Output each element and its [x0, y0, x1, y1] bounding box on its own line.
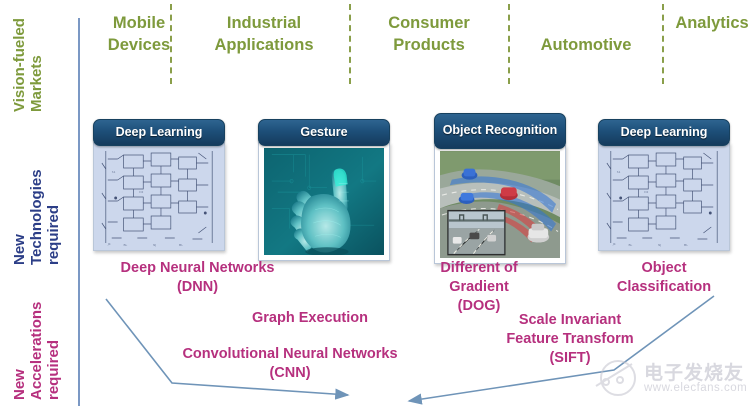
axis-tech-line2: Technologies — [29, 169, 46, 265]
market-columns-header: Mobile Devices Industrial Applications C… — [84, 4, 750, 84]
term-line1: Graph Execution — [240, 309, 380, 328]
column-header-line2: Devices — [108, 36, 170, 54]
svg-text:S1: S1 — [617, 170, 621, 174]
svg-text:ML: ML — [684, 243, 689, 247]
column-header-line1: Mobile — [113, 14, 165, 32]
tech-card-title: Object Recognition — [434, 113, 566, 149]
column-divider-2 — [349, 4, 351, 84]
vertical-axis-line — [78, 18, 80, 406]
term-object-classification: Object Classification — [594, 259, 734, 297]
tech-card-title-line1: Object — [443, 123, 482, 137]
svg-text:BL: BL — [629, 243, 633, 247]
term-deep-neural-networks: Deep Neural Networks (DNN) — [100, 259, 295, 297]
svg-text:NJ: NJ — [153, 243, 156, 247]
term-line2: Classification — [594, 278, 734, 297]
term-line1: Different of — [424, 259, 534, 278]
column-header-line1: Consumer — [388, 14, 470, 32]
hand-gesture-icon — [264, 148, 384, 255]
axis-label-new-technologies-required: New Technologies required — [12, 169, 62, 265]
term-line2: (DNN) — [100, 278, 295, 297]
neural-network-diagram-icon: JKBL NJML S1D2 — [599, 143, 729, 250]
tech-card-image-hand-gesture — [258, 142, 390, 261]
watermark-url: www.elecfans.com — [644, 382, 747, 394]
watermark: 电子发烧友 www.elecfans.com — [592, 356, 748, 406]
term-line1: Convolutional Neural Networks — [160, 345, 420, 364]
watermark-chinese-text: 电子发烧友 — [644, 358, 744, 385]
column-header-industrial-applications: Industrial Applications — [184, 12, 344, 57]
tech-card-image-neural-network-diagram: JKBL NJML S1D2 — [598, 142, 730, 251]
column-header-mobile-devices: Mobile Devices — [84, 12, 194, 57]
column-header-analytics-server: Analytics Server — [670, 12, 750, 34]
svg-text:D2: D2 — [644, 190, 648, 194]
slide-canvas: Vision-fueled Markets New Technologies r… — [0, 0, 750, 408]
term-line2: Gradient — [424, 278, 534, 297]
tech-card-object-recognition[interactable]: Object Recognition — [434, 113, 566, 264]
axis-markets-line1: Vision-fueled — [12, 18, 29, 112]
term-line1: Object — [594, 259, 734, 278]
axis-accel-line2: Accelerations — [29, 302, 46, 400]
axis-tech-line3: required — [46, 169, 63, 265]
term-convolutional-neural-networks: Convolutional Neural Networks (CNN) — [160, 345, 420, 383]
svg-text:D2: D2 — [139, 190, 143, 194]
watermark-logo-icon — [592, 356, 642, 400]
term-line1: Scale Invariant — [490, 311, 650, 330]
term-line1: Deep Neural Networks — [100, 259, 295, 278]
column-divider-1 — [170, 4, 172, 84]
axis-markets-line2: Markets — [29, 18, 46, 112]
term-graph-execution: Graph Execution — [240, 309, 380, 328]
svg-text:S1: S1 — [112, 170, 116, 174]
axis-accel-line3: required — [46, 302, 63, 400]
tech-card-title: Deep Learning — [598, 119, 730, 146]
neural-network-diagram-icon: JKBL NJML S1D2 — [94, 143, 224, 250]
tech-card-deep-learning-mobile[interactable]: Deep Learning — [93, 119, 225, 251]
column-header-line1: Analytics — [675, 14, 748, 32]
axis-tech-line1: New — [12, 169, 29, 265]
svg-text:BL: BL — [124, 243, 128, 247]
term-line2: (CNN) — [160, 364, 420, 383]
axis-label-vision-fueled-markets: Vision-fueled Markets — [12, 18, 46, 112]
column-header-line1: Automotive — [541, 36, 632, 54]
column-header-line1: Industrial — [227, 14, 301, 32]
axis-label-new-accelerations-required: New Accelerations required — [12, 302, 62, 400]
svg-text:NJ: NJ — [658, 243, 661, 247]
column-divider-4 — [662, 4, 664, 84]
tech-card-gesture[interactable]: Gesture — [258, 119, 390, 261]
column-divider-3 — [508, 4, 510, 84]
term-difference-of-gradient: Different of Gradient (DOG) — [424, 259, 534, 316]
column-header-consumer-products: Consumer Products — [356, 12, 502, 57]
column-header-automotive: Automotive — [516, 34, 656, 56]
tech-card-title: Gesture — [258, 119, 390, 146]
tech-card-image-highway-cars — [434, 145, 566, 264]
axis-accel-line1: New — [12, 302, 29, 400]
column-header-line2: Products — [393, 36, 465, 54]
term-line2: Feature Transform — [490, 330, 650, 349]
tech-card-image-neural-network-diagram: JKBL NJML S1D2 — [93, 142, 225, 251]
column-header-line2: Applications — [214, 36, 313, 54]
tech-card-title-line2: Recognition — [485, 123, 557, 137]
svg-text:ML: ML — [179, 243, 184, 247]
tech-card-title: Deep Learning — [93, 119, 225, 146]
tech-card-deep-learning-analytics[interactable]: Deep Learning — [598, 119, 730, 251]
highway-cars-icon — [440, 151, 560, 258]
